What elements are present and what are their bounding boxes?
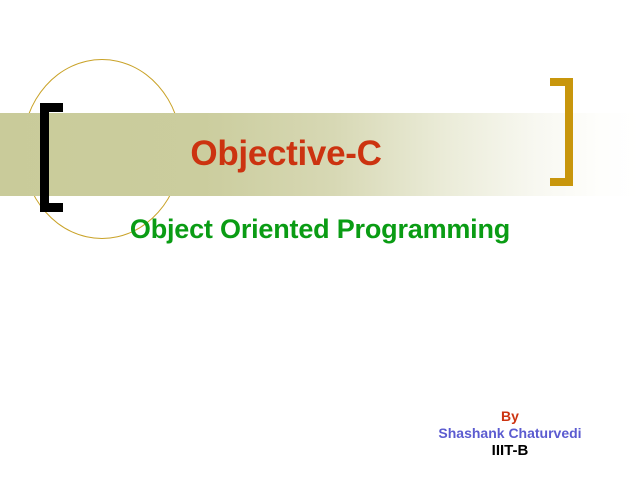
slide-title: Objective-C xyxy=(0,134,572,174)
author-name: Shashank Chaturvedi xyxy=(400,425,620,442)
author-by-label: By xyxy=(400,408,620,425)
presentation-slide: Objective-C Object Oriented Programming … xyxy=(0,0,640,480)
author-organization: IIIT-B xyxy=(400,442,620,460)
slide-subtitle: Object Oriented Programming xyxy=(0,214,640,245)
author-block: By Shashank Chaturvedi IIIT-B xyxy=(400,408,620,460)
